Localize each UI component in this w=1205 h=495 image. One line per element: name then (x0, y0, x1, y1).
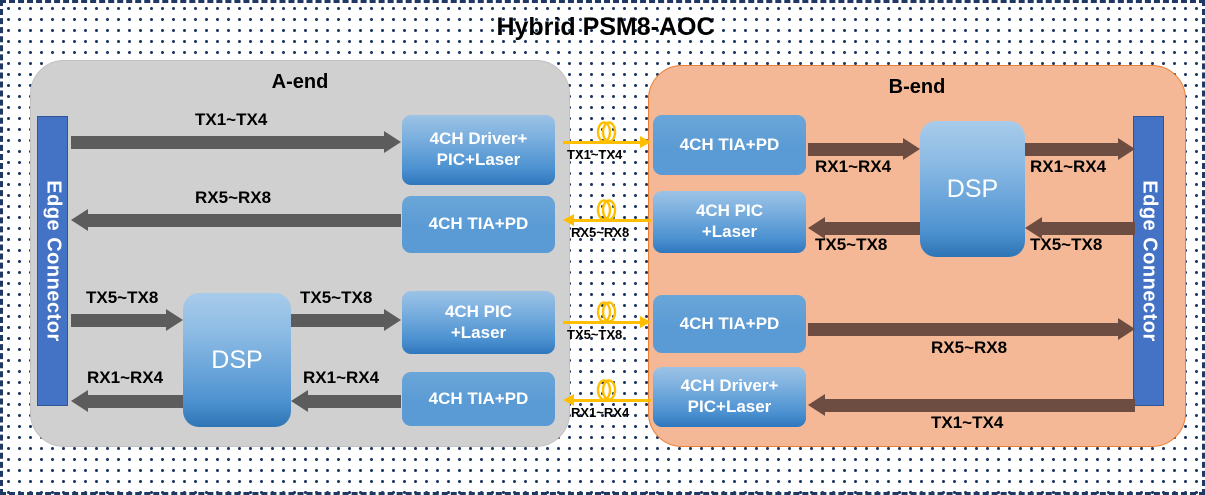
edge-connector-b[interactable]: Edge Connector (1133, 116, 1164, 406)
diagram-canvas: Hybrid PSM8-AOC A-end B-end Edge Connect… (0, 0, 1205, 495)
fiber-label-4: RX1~RX4 (571, 405, 629, 420)
b-module-pic-laser[interactable]: 4CH PIC+Laser (653, 191, 806, 253)
a-signal-row4-right: RX1~RX4 (303, 368, 379, 388)
a-signal-row2: RX5~RX8 (195, 188, 271, 208)
edge-connector-a[interactable]: Edge Connector (37, 116, 68, 406)
fiber-coil-icon-1 (595, 121, 619, 143)
a-dsp-block[interactable]: DSP (183, 293, 291, 427)
a-end-label: A-end (31, 71, 569, 94)
a-signal-row4-left: RX1~RX4 (87, 368, 163, 388)
fiber-label-3: TX5~TX8 (567, 327, 622, 342)
edge-connector-b-label: Edge Connector (1137, 180, 1160, 341)
b-module-tia-pd-bottom[interactable]: 4CH TIA+PD (653, 295, 806, 353)
fiber-coil-icon-4 (595, 379, 619, 401)
b-signal-row1-right: RX1~RX4 (1030, 157, 1106, 177)
b-module-2-label: 4CH PIC+Laser (696, 201, 763, 242)
b-signal-row1-left: RX1~RX4 (815, 157, 891, 177)
fiber-coil-icon-2 (595, 199, 619, 221)
a-signal-row1: TX1~TX4 (195, 110, 267, 130)
a-dsp-label: DSP (211, 345, 262, 376)
edge-connector-a-label: Edge Connector (41, 180, 64, 341)
b-module-3-label: 4CH TIA+PD (680, 314, 780, 335)
b-module-tia-pd-top[interactable]: 4CH TIA+PD (653, 115, 806, 175)
b-end-label: B-end (649, 76, 1185, 99)
a-signal-row3-left: TX5~TX8 (86, 288, 158, 308)
page-title: Hybrid PSM8-AOC (3, 13, 1205, 42)
b-module-driver-pic-laser[interactable]: 4CH Driver+PIC+Laser (653, 367, 806, 427)
a-module-4-label: 4CH TIA+PD (429, 389, 529, 410)
fiber-coil-icon-3 (595, 301, 619, 323)
b-dsp-block[interactable]: DSP (920, 121, 1025, 257)
b-signal-row2-left: TX5~TX8 (815, 235, 887, 255)
fiber-label-2: RX5~RX8 (571, 225, 629, 240)
b-module-1-label: 4CH TIA+PD (680, 135, 780, 156)
a-module-1-label: 4CH Driver+PIC+Laser (430, 129, 528, 170)
b-module-4-label: 4CH Driver+PIC+Laser (681, 376, 779, 417)
fiber-label-1: TX1~TX4 (567, 147, 622, 162)
a-module-2-label: 4CH TIA+PD (429, 214, 529, 235)
a-module-tia-pd-top[interactable]: 4CH TIA+PD (402, 196, 555, 253)
b-signal-row4: TX1~TX4 (931, 413, 1003, 433)
a-module-3-label: 4CH PIC+Laser (445, 302, 512, 343)
a-module-tia-pd-bottom[interactable]: 4CH TIA+PD (402, 372, 555, 426)
b-signal-row2-right: TX5~TX8 (1030, 235, 1102, 255)
b-signal-row3: RX5~RX8 (931, 338, 1007, 358)
a-module-pic-laser[interactable]: 4CH PIC+Laser (402, 291, 555, 354)
b-dsp-label: DSP (947, 174, 998, 205)
a-signal-row3-right: TX5~TX8 (300, 288, 372, 308)
a-module-driver-pic-laser[interactable]: 4CH Driver+PIC+Laser (402, 115, 555, 185)
